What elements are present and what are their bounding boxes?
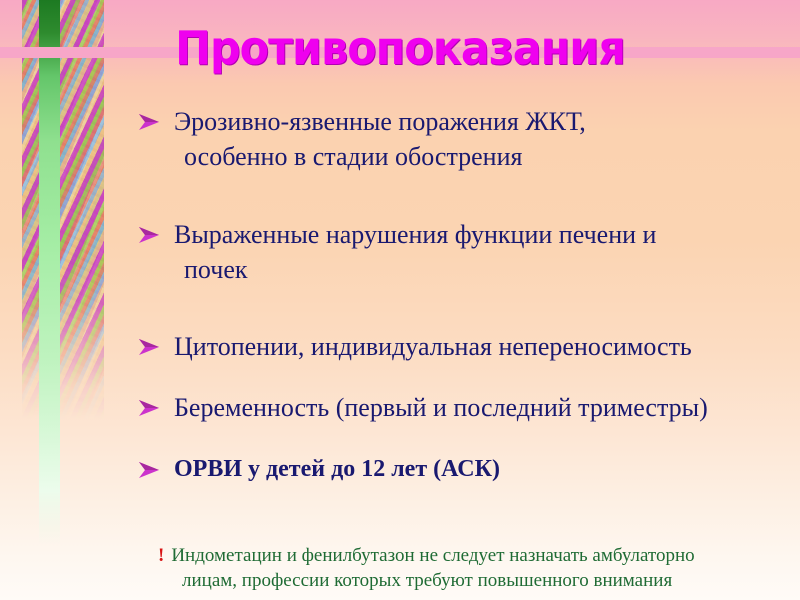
list-item-line-1: Выраженные нарушения функции печени и [174,220,656,249]
warning-exclamation-icon: ! [158,545,164,566]
list-item-line-1: Беременность (первый и последний тримест… [174,393,708,422]
list-item: Беременность (первый и последний тримест… [138,390,800,425]
list-item-line-2: особенно в стадии обострения [174,139,800,174]
slide-title: Противопоказания [28,22,772,74]
bullet-list: Эрозивно-язвенные поражения ЖКТ, особенн… [138,104,800,487]
list-item: Цитопении, индивидуальная непереносимост… [138,329,800,364]
arrow-bullet-icon [138,226,160,244]
arrow-bullet-icon [138,113,160,131]
list-item: Выраженные нарушения функции печени и по… [138,217,800,287]
footer-note-line-2: лицам, профессии которых требуют повышен… [158,568,800,593]
arrow-bullet-icon [138,461,160,479]
list-item: ОРВИ у детей до 12 лет (АСК) [138,452,800,487]
list-item-line-1: Цитопении, индивидуальная непереносимост… [174,332,692,361]
presentation-slide: Противопоказания Эрозивно-язвенные пораж… [0,0,800,600]
arrow-bullet-icon [138,338,160,356]
list-item-line-1: Эрозивно-язвенные поражения ЖКТ, [174,107,586,136]
footer-note-line-1: Индометацин и фенилбутазон не следует на… [171,545,694,566]
list-item-line-1: ОРВИ у детей до 12 лет (АСК) [174,456,500,482]
band-green-stripe [39,0,60,545]
arrow-bullet-icon [138,399,160,417]
footer-note: !Индометацин и фенилбутазон не следует н… [158,543,800,593]
list-item: Эрозивно-язвенные поражения ЖКТ, особенн… [138,104,800,174]
list-item-line-2: почек [174,252,800,287]
